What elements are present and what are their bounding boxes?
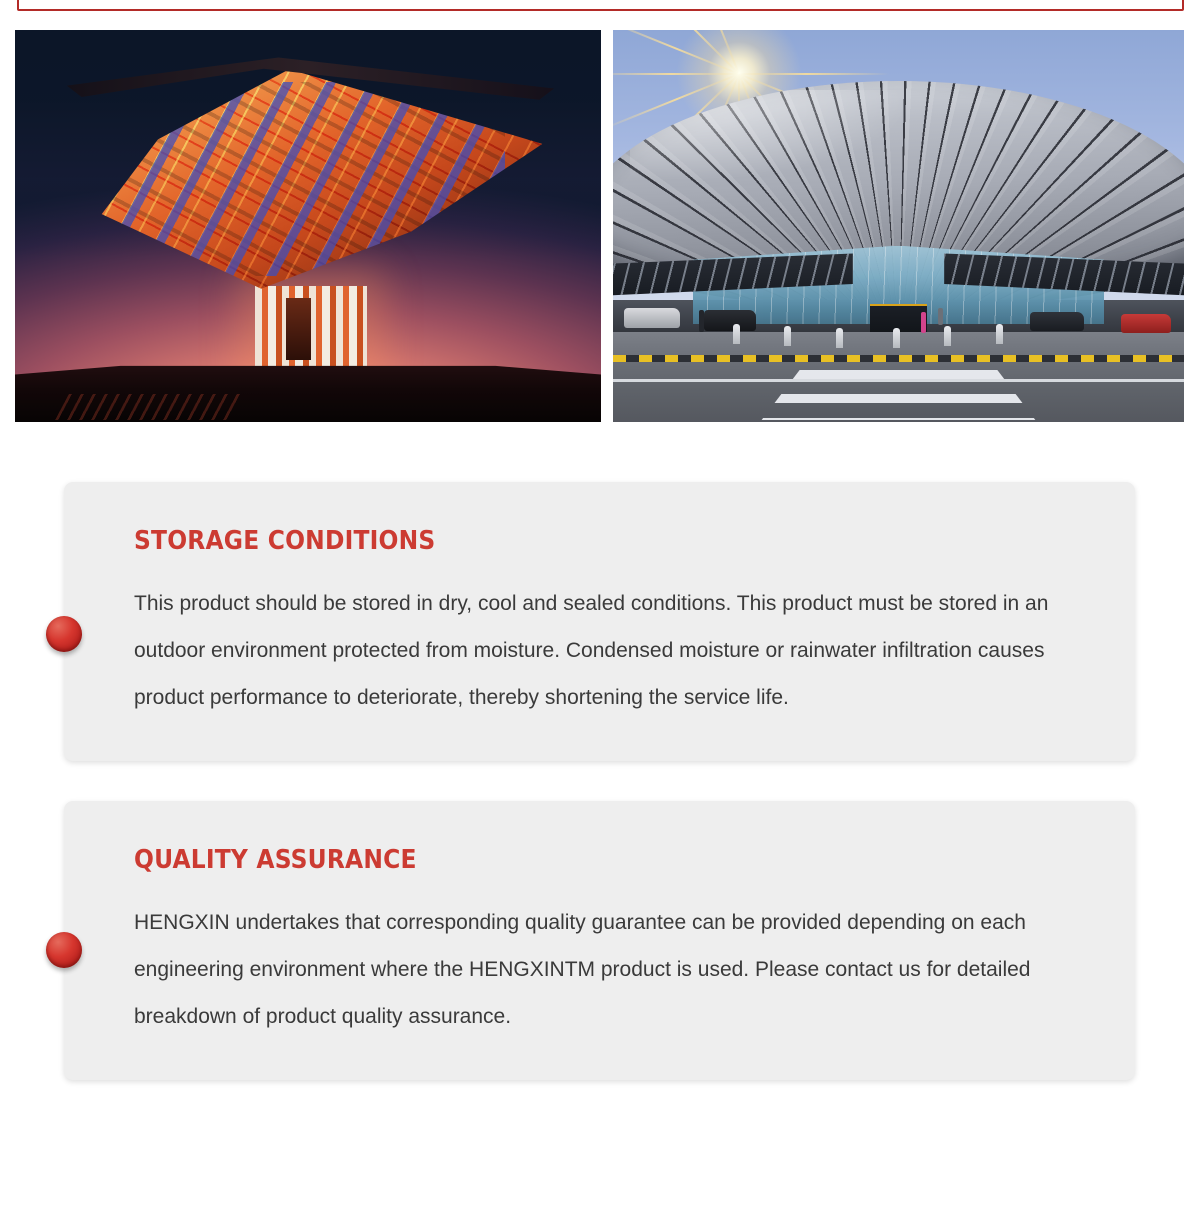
card-body-panel: QUALITY ASSURANCE HENGXIN undertakes tha…: [64, 801, 1135, 1080]
project-photo-gallery: [15, 30, 1184, 422]
info-cards-section: STORAGE CONDITIONS This product should b…: [0, 482, 1200, 1120]
sun-ray: [739, 73, 889, 75]
sun-ray: [613, 73, 739, 75]
page-root: STORAGE CONDITIONS This product should b…: [0, 0, 1200, 1217]
red-outlined-content-frame: [17, 0, 1184, 11]
airport-terminal-photo[interactable]: [613, 30, 1184, 422]
card-quality-assurance: QUALITY ASSURANCE HENGXIN undertakes tha…: [0, 801, 1200, 1080]
bollard: [733, 324, 740, 344]
crosswalk-stripes: [761, 370, 1035, 420]
bollard: [836, 328, 843, 348]
card-bullet-icon: [46, 932, 82, 968]
pedestrian: [938, 308, 943, 325]
card-paragraph: This product should be stored in dry, co…: [134, 580, 1095, 721]
parked-vehicle: [1030, 312, 1084, 331]
museum-inverted-pyramid-roof: [74, 69, 543, 289]
bollard: [944, 326, 951, 346]
card-storage-conditions: STORAGE CONDITIONS This product should b…: [0, 482, 1200, 761]
bollard: [893, 328, 900, 348]
yellow-black-curb: [613, 355, 1184, 362]
parked-vehicle: [704, 310, 756, 331]
museum-night-photo[interactable]: [15, 30, 601, 422]
card-paragraph: HENGXIN undertakes that corresponding qu…: [134, 899, 1095, 1040]
roof-highlight: [630, 90, 911, 181]
pedestrian: [921, 312, 926, 333]
bollard: [996, 324, 1003, 344]
parked-vehicle: [1121, 314, 1171, 333]
pedestrian: [699, 310, 704, 332]
parked-vehicle: [624, 308, 680, 328]
card-bullet-icon: [46, 616, 82, 652]
museum-base-columns: [255, 286, 366, 370]
roof-window-bands: [111, 82, 505, 275]
museum-building: [15, 30, 601, 422]
card-heading: STORAGE CONDITIONS: [134, 526, 1095, 556]
card-heading: QUALITY ASSURANCE: [134, 845, 1095, 875]
bollard: [784, 326, 791, 346]
card-body-panel: STORAGE CONDITIONS This product should b…: [64, 482, 1135, 761]
